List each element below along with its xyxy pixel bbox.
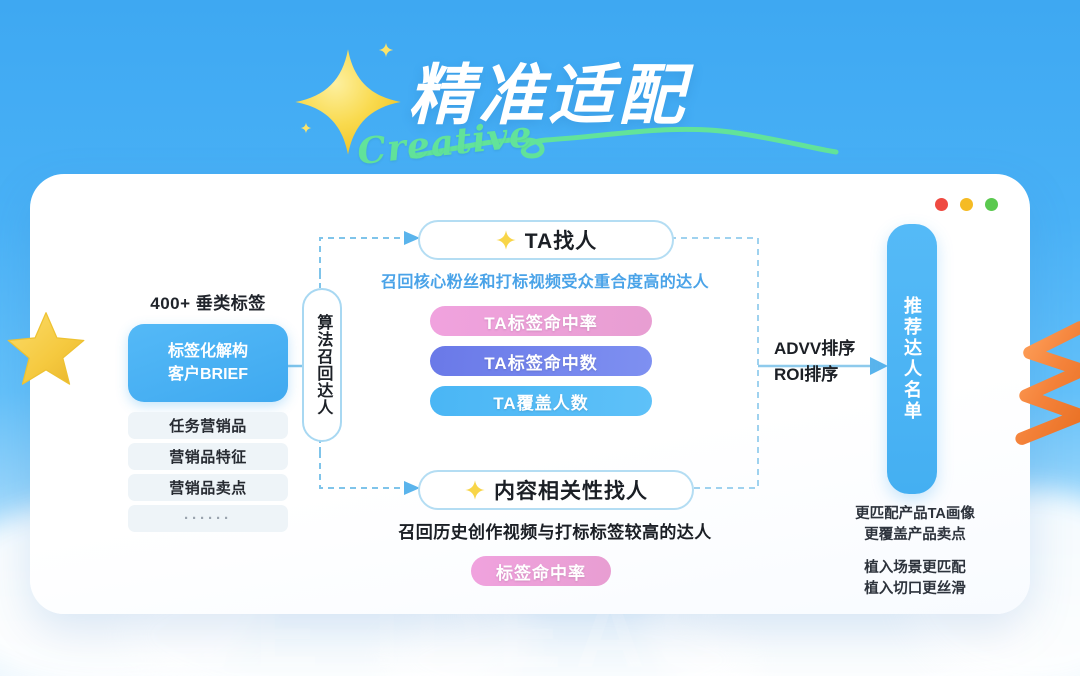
ranking-labels: ADVV排序 ROI排序 [774, 336, 904, 389]
window-dots [935, 198, 998, 211]
benefit-line: 更覆盖产品卖点 [820, 525, 1010, 546]
list-item[interactable]: 任务营销品 [128, 412, 288, 439]
benefits-text: 更匹配产品TA画像 更覆盖产品卖点 植入场景更匹配 植入切口更丝滑 [820, 504, 1010, 600]
brief-line-2: 客户BRIEF [168, 365, 248, 385]
branch-subtitle-ta: 召回核心粉丝和打标视频受众重合度高的达人 [340, 268, 750, 292]
algorithm-label: 算法召回达人 [314, 314, 331, 416]
tags-count-label: 400+ 垂类标签 [128, 289, 288, 314]
result-label: 推荐达人名单 [899, 296, 925, 422]
screenshot-root: WE IDEAS 精准适配 Creative [0, 0, 1080, 676]
branch-title: TA找人 [525, 225, 597, 255]
brief-deconstruct-box[interactable]: 标签化解构 客户BRIEF [128, 324, 288, 402]
sparkle-icon [464, 479, 486, 501]
close-dot[interactable] [935, 198, 948, 211]
input-column: 400+ 垂类标签 标签化解构 客户BRIEF 任务营销品 营销品特征 营销品卖… [128, 289, 288, 532]
benefit-line: 更匹配产品TA画像 [820, 504, 1010, 525]
metric-pill[interactable]: 标签命中率 [471, 556, 611, 586]
branch-subtitle-content: 召回历史创作视频与打标标签较高的达人 [340, 518, 770, 543]
branch-header-content[interactable]: 内容相关性找人 [418, 470, 694, 510]
sparkle-icon [495, 229, 517, 251]
list-item-more[interactable]: ······ [128, 505, 288, 532]
result-box[interactable]: 推荐达人名单 [887, 224, 937, 494]
metric-pill[interactable]: TA覆盖人数 [430, 386, 652, 416]
branch-header-ta[interactable]: TA找人 [418, 220, 674, 260]
ranking-line-2: ROI排序 [774, 362, 904, 388]
minimize-dot[interactable] [960, 198, 973, 211]
metric-pill[interactable]: TA标签命中率 [430, 306, 652, 336]
algorithm-recall-pill: 算法召回达人 [302, 288, 342, 442]
sparkle-icon-small [300, 122, 312, 134]
main-card: 400+ 垂类标签 标签化解构 客户BRIEF 任务营销品 营销品特征 营销品卖… [30, 174, 1030, 614]
metric-pill[interactable]: TA标签命中数 [430, 346, 652, 376]
input-list: 任务营销品 营销品特征 营销品卖点 ······ [128, 412, 288, 532]
benefit-line: 植入切口更丝滑 [820, 579, 1010, 600]
brief-line-1: 标签化解构 [168, 342, 248, 362]
header: 精准适配 Creative [0, 18, 1080, 158]
branch-title: 内容相关性找人 [494, 475, 648, 505]
sparkle-icon-small [378, 42, 394, 58]
maximize-dot[interactable] [985, 198, 998, 211]
star-decoration [4, 306, 88, 390]
benefit-line: 植入场景更匹配 [820, 558, 1010, 579]
spring-decoration [1012, 318, 1080, 448]
list-item[interactable]: 营销品特征 [128, 443, 288, 470]
ranking-line-1: ADVV排序 [774, 336, 904, 362]
list-item[interactable]: 营销品卖点 [128, 474, 288, 501]
